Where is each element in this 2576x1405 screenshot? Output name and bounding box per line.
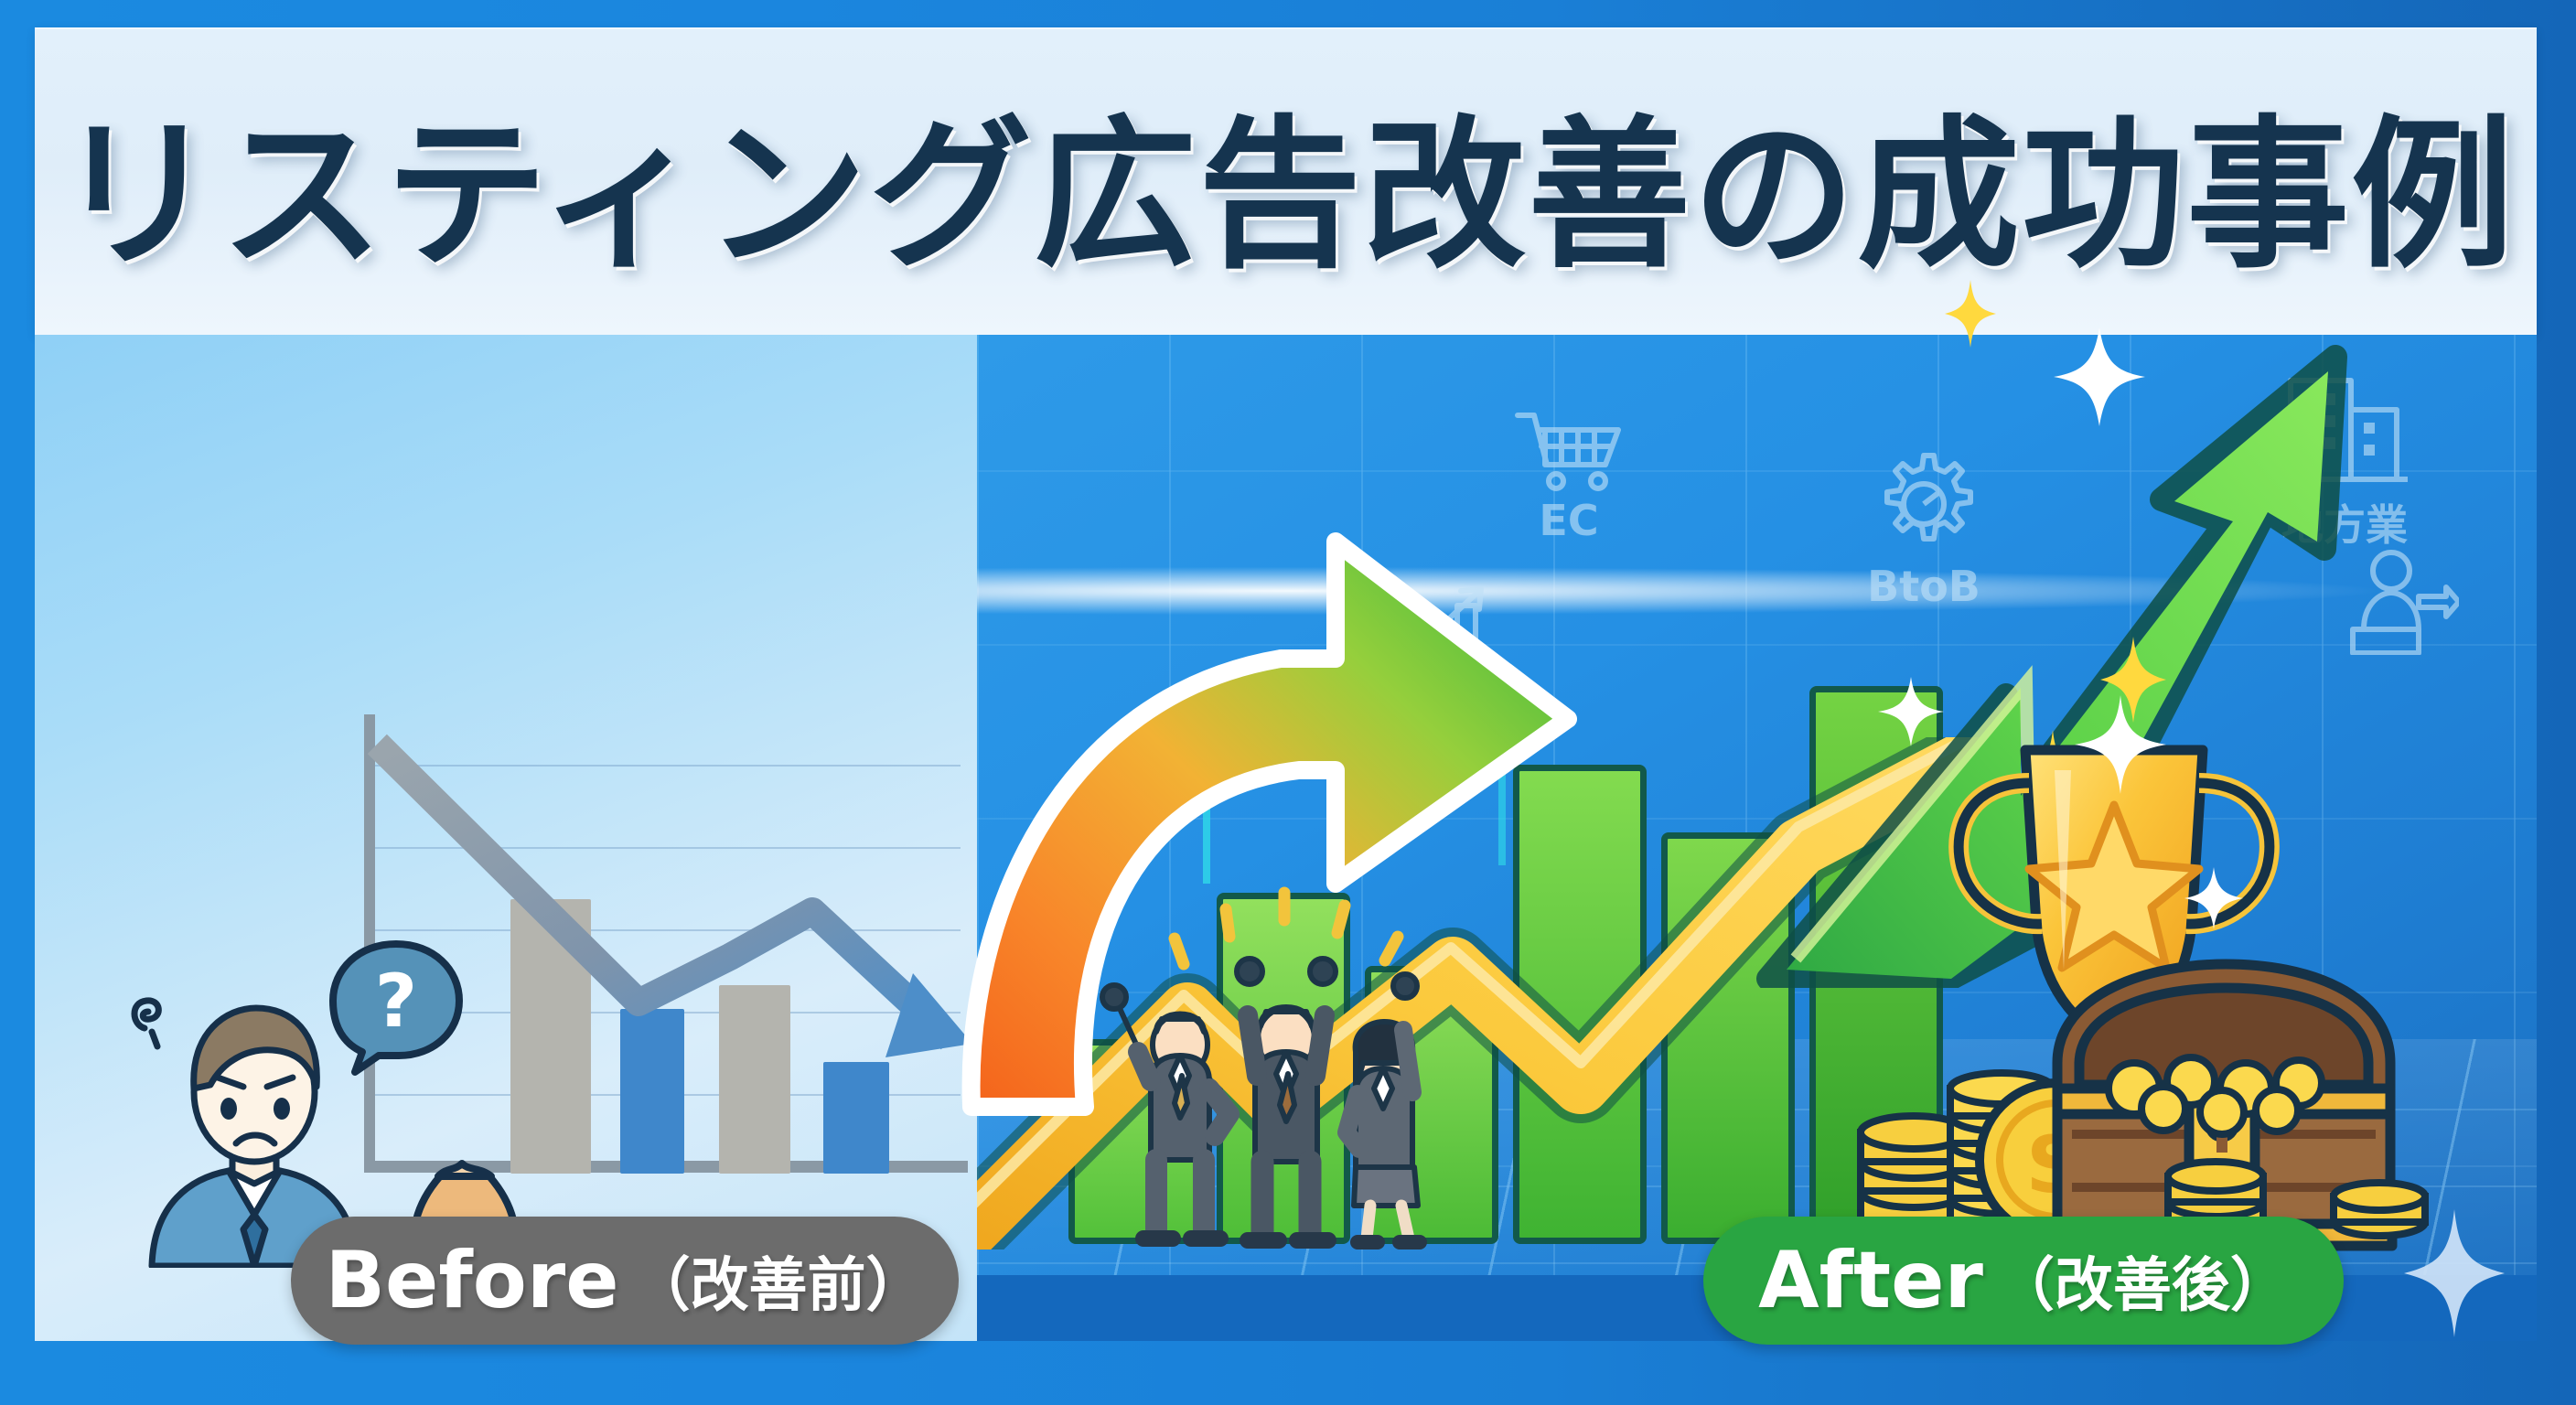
cheering-business-team-icon: [1096, 869, 1489, 1253]
cart-icon: EC: [1491, 408, 1647, 545]
growth-chart-icon: 業績: [1343, 582, 1517, 741]
before-badge[interactable]: Before （改善前）: [291, 1217, 959, 1345]
after-badge-jp: （改善後）: [1996, 1239, 2289, 1323]
before-badge-en: Before: [325, 1235, 618, 1326]
corner-sparkle-icon: [2404, 1209, 2505, 1337]
before-badge-jp: （改善前）: [632, 1239, 925, 1323]
growth-chart-icon-label: 業績: [1343, 681, 1517, 741]
sparkle-icon: [1945, 280, 1996, 348]
after-badge-en: After: [1758, 1235, 1983, 1326]
cart-icon-label: EC: [1491, 496, 1647, 545]
after-scene: EC BtoB: [977, 335, 2537, 1341]
poster-canvas: リスティング広告改善の成功事例: [0, 0, 2576, 1405]
after-badge[interactable]: After （改善後）: [1703, 1217, 2344, 1345]
bubble-glyph: ?: [375, 959, 417, 1044]
before-scene: ?: [35, 335, 977, 1341]
question-bubble-icon: ?: [327, 938, 465, 1076]
